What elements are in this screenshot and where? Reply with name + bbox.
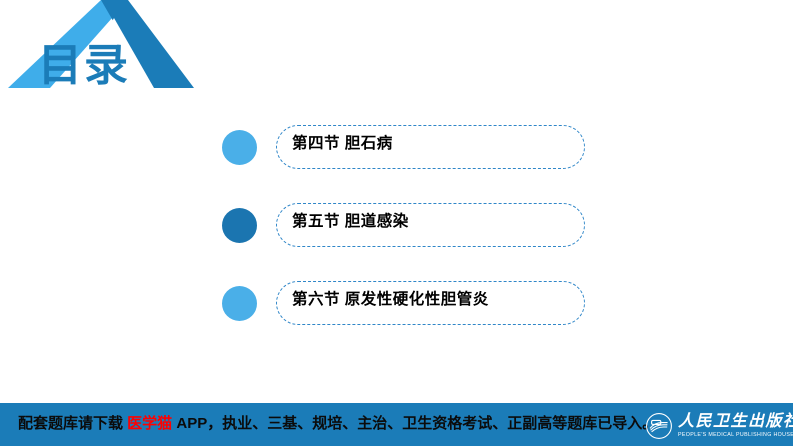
toc-item-1[interactable]: 第四节 胆石病	[0, 118, 793, 196]
toc-bullet-3	[222, 286, 257, 321]
toc-label-2: 第五节 胆道感染	[292, 214, 409, 230]
toc-item-2[interactable]: 第五节 胆道感染	[0, 196, 793, 274]
slide-canvas: 目录 第四节 胆石病 第五节 胆道感染 第六节 原发性硬化性胆管炎 配套题库请下…	[0, 0, 793, 446]
toc-item-3[interactable]: 第六节 原发性硬化性胆管炎	[0, 274, 793, 352]
banner-text-before: 配套题库请下载	[18, 415, 127, 432]
banner-text-after: APP，执业、三基、规培、主治、卫生资格考试、正副高等题库已导入。	[172, 415, 657, 432]
publisher-emblem-icon	[645, 412, 673, 440]
page-title: 目录	[38, 44, 130, 88]
publisher-logo: 人民卫生出版社 PEOPLE'S MEDICAL PUBLISHING HOUS…	[645, 411, 787, 441]
toc-label-3: 第六节 原发性硬化性胆管炎	[292, 292, 489, 308]
toc-bullet-1	[222, 130, 257, 165]
banner-app-name: 医学猫	[127, 415, 172, 432]
publisher-wordmark: 人民卫生出版社 PEOPLE'S MEDICAL PUBLISHING HOUS…	[678, 414, 793, 438]
toc-label-1: 第四节 胆石病	[292, 136, 393, 152]
banner-promo-text: 配套题库请下载 医学猫 APP，执业、三基、规培、主治、卫生资格考试、正副高等题…	[18, 415, 657, 433]
toc-bullet-2	[222, 208, 257, 243]
publisher-name-cn: 人民卫生出版社	[678, 414, 793, 430]
publisher-name-en: PEOPLE'S MEDICAL PUBLISHING HOUSE	[678, 433, 793, 438]
bottom-banner: 配套题库请下载 医学猫 APP，执业、三基、规培、主治、卫生资格考试、正副高等题…	[0, 403, 793, 446]
toc-list: 第四节 胆石病 第五节 胆道感染 第六节 原发性硬化性胆管炎	[0, 118, 793, 352]
